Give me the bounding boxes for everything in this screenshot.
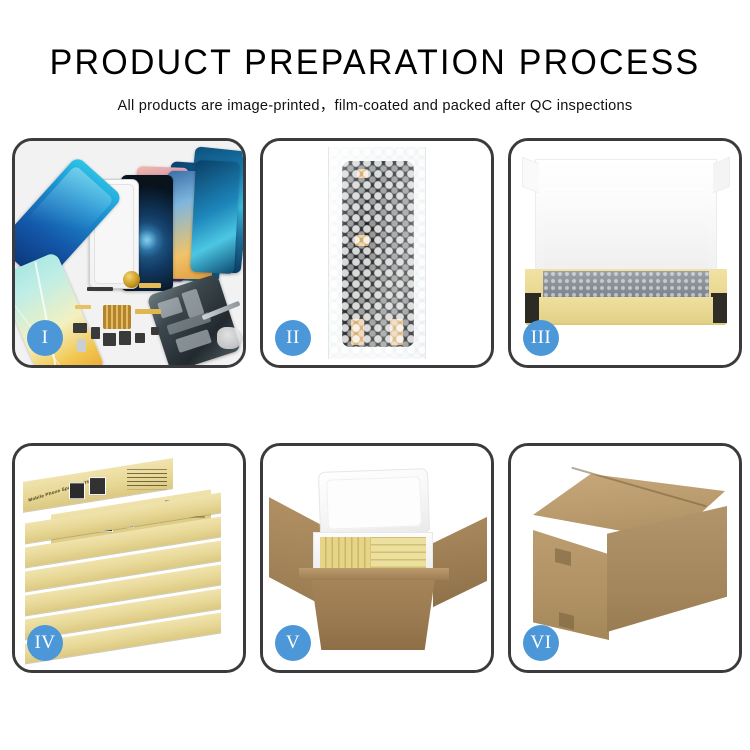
carton-flap-right [433,517,487,607]
step-badge-3: III [523,320,559,356]
flex-cable [135,309,161,314]
carton-front [305,574,441,650]
step-badge-2: II [275,320,311,356]
process-step-1: I [12,138,246,368]
kraft-box-tray [525,269,727,325]
bubble-wrap-bag [328,147,426,359]
small-part [91,327,100,339]
step-badge-1: I [27,320,63,356]
process-step-5: V [260,443,494,673]
product-preparation-infographic: PRODUCT PREPARATION PROCESS All products… [0,0,750,750]
process-step-6: VI [508,443,742,673]
foam-box-lid [318,468,430,536]
connector-grid-icon [103,305,131,329]
label-window [69,482,85,499]
small-part [73,323,87,333]
spare-parts-cluster [73,275,193,359]
white-box-lid [535,159,717,277]
speaker-module-icon [123,271,140,288]
label-spec-lines [127,469,167,489]
small-part [151,327,159,335]
step-badge-4: IV [27,625,63,661]
small-part [135,333,145,343]
process-step-grid: I II [12,138,743,673]
label-window [89,477,106,495]
step-badge-6: VI [523,625,559,661]
tray-edge-right [711,293,727,323]
process-step-4: Mobile Phone Spare Parts Mobile Phone Sp… [12,443,246,673]
small-part [103,333,116,346]
flex-cable [75,305,91,309]
header: PRODUCT PREPARATION PROCESS All products… [0,0,750,115]
small-part [77,339,86,352]
small-part [87,287,113,291]
carton-rim [299,568,449,580]
phone-mockup-blue-small [190,160,240,274]
hand-holding-part [217,327,243,349]
wrapped-items-fill [543,271,709,297]
step-badge-5: V [275,625,311,661]
page-subtitle: All products are image-printed，film-coat… [0,94,750,115]
small-part [119,331,131,345]
lid-face [544,188,708,272]
tray-front-panel [539,297,713,323]
bubble-texture [329,147,425,359]
process-step-3: III [508,138,742,368]
process-step-2: II [260,138,494,368]
flex-cable [139,283,161,288]
page-title: PRODUCT PREPARATION PROCESS [11,45,739,80]
